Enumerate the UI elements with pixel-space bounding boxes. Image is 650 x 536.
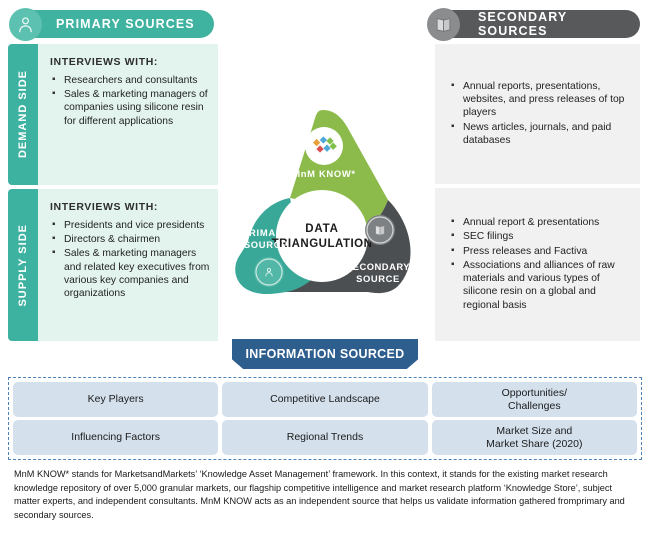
information-sourced-table: Key Players Competitive Landscape Opport… xyxy=(8,377,642,460)
primary-sources-header: PRIMARY SOURCES xyxy=(26,10,214,38)
primary-sources-title: PRIMARY SOURCES xyxy=(26,17,195,31)
petal-label-primary-line-2: SOURCE xyxy=(244,239,288,250)
list-item: Associations and alliances of raw materi… xyxy=(461,259,630,312)
list-item: News articles, journals, and paid databa… xyxy=(461,121,630,147)
center-label-line-1: DATA xyxy=(305,223,338,235)
secondary-bottom-bullet-list: Annual report & presentations SEC filing… xyxy=(445,216,630,312)
list-item: Press releases and Factiva xyxy=(461,245,630,258)
petal-label-secondary-line-1: SECONDARY xyxy=(346,261,410,272)
list-item: Sales & marketing managers of companies … xyxy=(62,88,210,128)
list-item: Annual report & presentations xyxy=(461,216,630,229)
demand-bullet-list: Researchers and consultants Sales & mark… xyxy=(46,74,210,128)
list-item: SEC filings xyxy=(461,230,630,243)
person-icon-glyph xyxy=(16,15,35,34)
panel-demand-side: INTERVIEWS WITH: Researchers and consult… xyxy=(38,44,218,185)
petal-label-mnm-know: MnM KNOW* xyxy=(292,168,356,179)
supply-interviews-heading: INTERVIEWS WITH: xyxy=(50,201,210,213)
list-item: Sales & marketing managers and related k… xyxy=(62,247,210,300)
book-icon-glyph xyxy=(434,15,453,34)
panel-secondary-top: Annual reports, presentations, websites,… xyxy=(435,44,640,184)
rail-demand-side: DEMAND SIDE xyxy=(8,44,38,185)
secondary-sources-header: SECONDARY SOURCES xyxy=(444,10,640,38)
petal-label-secondary-line-2: SOURCE xyxy=(356,273,400,284)
list-item: Directors & chairmen xyxy=(62,233,210,246)
rail-demand-side-label: DEMAND SIDE xyxy=(17,70,29,158)
table-cell-competitive-landscape[interactable]: Competitive Landscape xyxy=(222,382,427,417)
information-sourced-label: INFORMATION SOURCED xyxy=(246,347,405,361)
table-cell-influencing-factors[interactable]: Influencing Factors xyxy=(13,420,218,455)
triangle-svg: DATA TRIANGULATION MnM KNOW* PRIMARY SOU… xyxy=(228,108,418,304)
information-sourced-banner: INFORMATION SOURCED xyxy=(232,339,418,369)
table-row: Key Players Competitive Landscape Opport… xyxy=(13,382,637,417)
footnote-text: MnM KNOW* stands for MarketsandMarkets’ … xyxy=(14,468,636,522)
list-item: Annual reports, presentations, websites,… xyxy=(461,80,630,120)
petal-label-primary-line-1: PRIMARY xyxy=(242,227,290,238)
list-item: Researchers and consultants xyxy=(62,74,210,87)
supply-bullet-list: Presidents and vice presidents Directors… xyxy=(46,219,210,300)
table-row: Influencing Factors Regional Trends Mark… xyxy=(13,420,637,455)
panel-supply-side: INTERVIEWS WITH: Presidents and vice pre… xyxy=(38,189,218,341)
person-icon xyxy=(9,8,42,41)
book-icon xyxy=(427,8,460,41)
rail-supply-side-label: SUPPLY SIDE xyxy=(17,224,29,307)
mnm-logo-circle xyxy=(305,127,343,165)
table-cell-market-size-share[interactable]: Market Size andMarket Share (2020) xyxy=(432,420,637,455)
table-cell-opportunities-challenges[interactable]: Opportunities/Challenges xyxy=(432,382,637,417)
secondary-top-bullet-list: Annual reports, presentations, websites,… xyxy=(445,80,630,148)
data-triangulation-diagram: DATA TRIANGULATION MnM KNOW* PRIMARY SOU… xyxy=(228,108,418,304)
list-item: Presidents and vice presidents xyxy=(62,219,210,232)
panel-secondary-bottom: Annual report & presentations SEC filing… xyxy=(435,188,640,341)
demand-interviews-heading: INTERVIEWS WITH: xyxy=(50,56,210,68)
rail-supply-side: SUPPLY SIDE xyxy=(8,189,38,341)
table-cell-key-players[interactable]: Key Players xyxy=(13,382,218,417)
secondary-sources-title: SECONDARY SOURCES xyxy=(444,10,640,38)
book-icon xyxy=(376,226,385,235)
table-cell-regional-trends[interactable]: Regional Trends xyxy=(222,420,427,455)
